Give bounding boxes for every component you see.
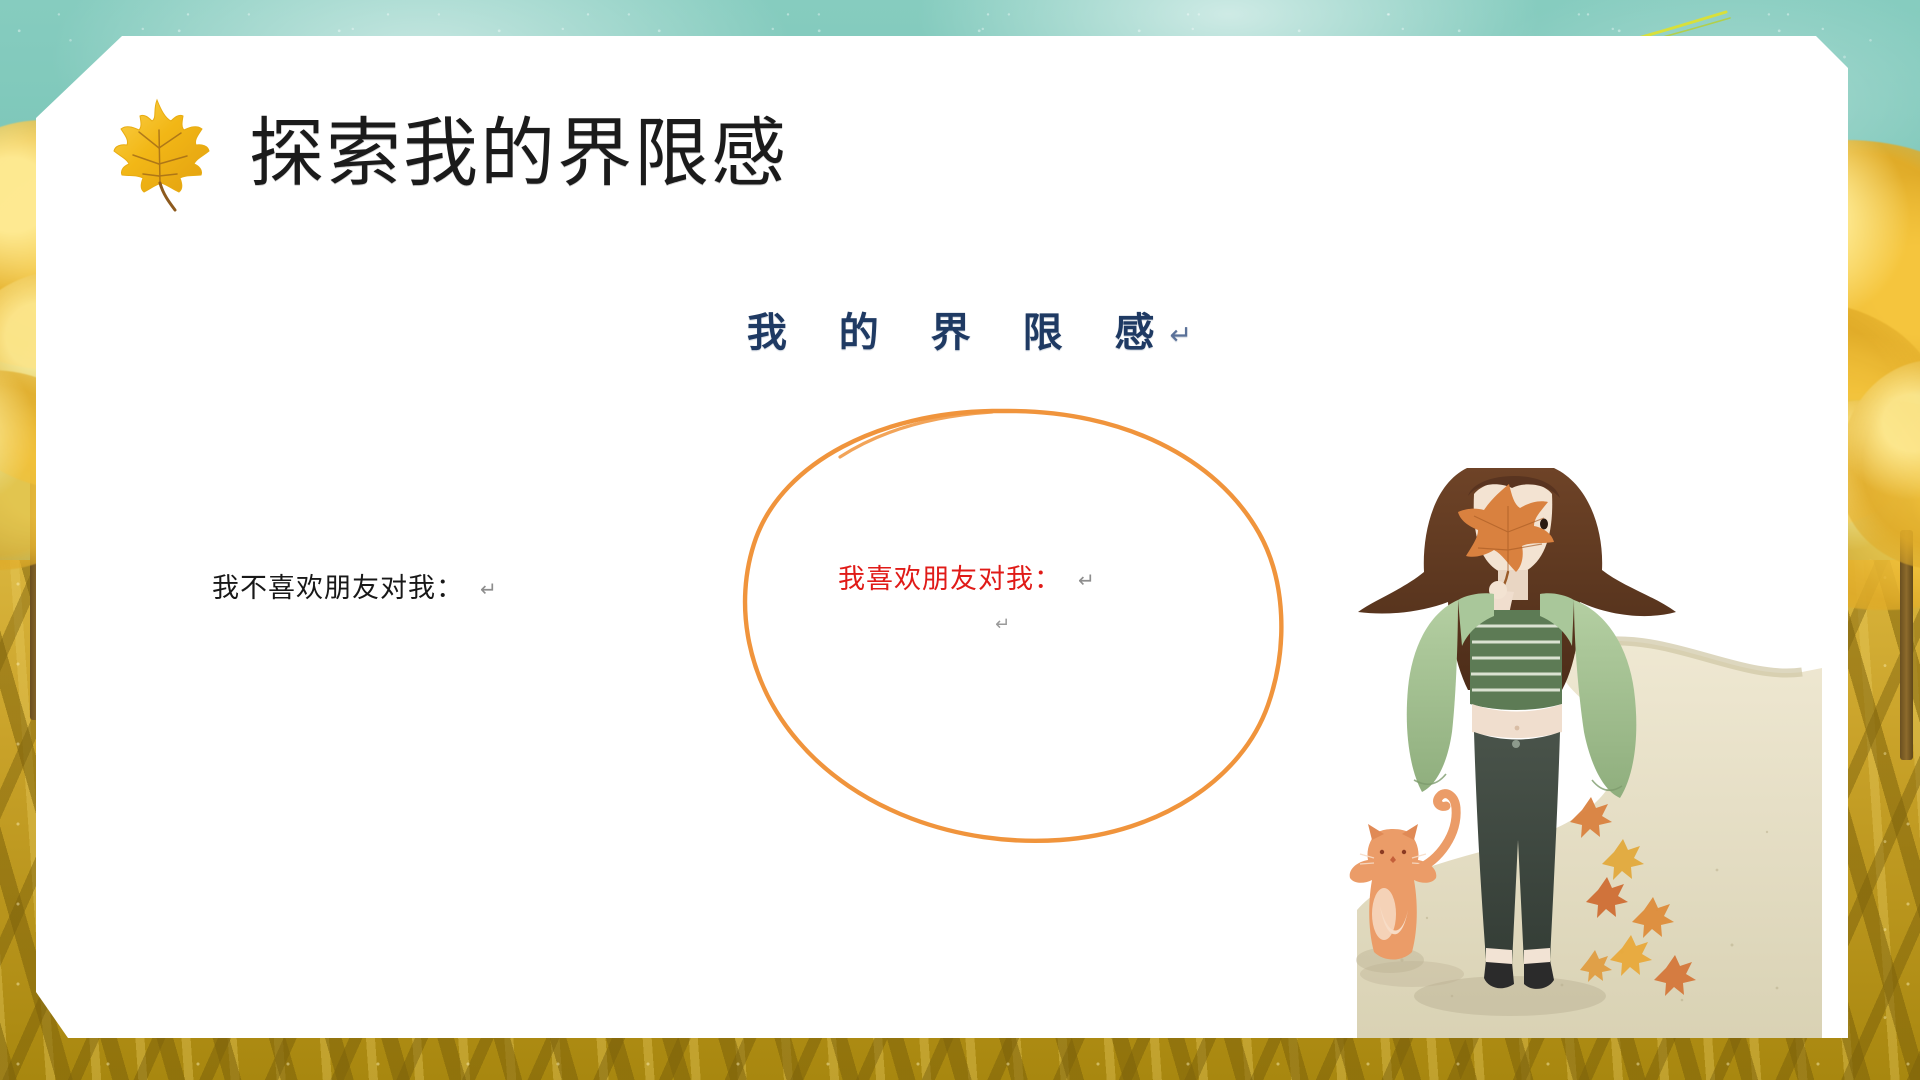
striped-top	[1470, 610, 1562, 710]
return-mark-icon-secondary: ↵	[995, 614, 1010, 635]
autumn-tree-far-right	[1840, 300, 1920, 700]
girl-with-maple-leaf-and-cat-illustration	[1262, 440, 1832, 1038]
right-prompt-text: 我喜欢朋友对我：↵	[838, 557, 1095, 596]
return-mark-icon: ↵	[480, 577, 497, 601]
title-row: 探索我的界限感	[95, 88, 788, 220]
left-prompt-label: 我不喜欢朋友对我：	[212, 573, 464, 604]
page-title: 探索我的界限感	[249, 117, 788, 192]
right-prompt-label: 我喜欢朋友对我：	[838, 564, 1062, 595]
center-heading-text: 我 的 界 限 感	[747, 310, 1174, 356]
left-prompt-text: 我不喜欢朋友对我：↵	[212, 566, 497, 605]
return-mark-icon: ↵	[1170, 320, 1193, 351]
slide-stage: 探索我的界限感 我 的 界 限 感↵ 我不喜欢朋友对我：↵ 我喜欢朋友对我：↵ …	[0, 0, 1920, 1080]
return-mark-icon: ↵	[1078, 568, 1095, 592]
maple-leaf-icon	[95, 88, 227, 220]
center-heading: 我 的 界 限 感↵	[0, 300, 1920, 358]
